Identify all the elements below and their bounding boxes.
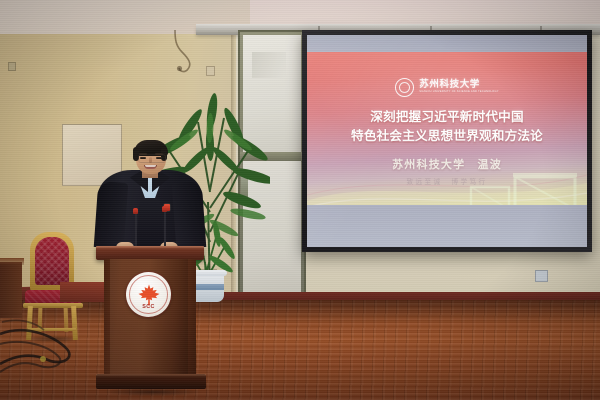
logo-chinese-name: 苏州科技大学	[419, 80, 480, 90]
projection-screen: 苏州科技大学 SUZHOU UNIVERSITY OF SCIENCE AND …	[302, 30, 592, 252]
side-table-top	[0, 258, 24, 265]
wall-socket-right	[535, 270, 548, 282]
suit-shoulder-right	[172, 181, 207, 249]
glasses	[138, 154, 166, 163]
lecture-hall-photograph: 苏州科技大学 SUZHOU UNIVERSITY OF SCIENCE AND …	[0, 0, 600, 400]
chair-back-cushion	[35, 237, 69, 285]
slide-title-line1: 深刻把握习近平新时代中国	[307, 108, 587, 127]
lectern-base-highlight	[96, 374, 206, 377]
slide-title-line2: 特色社会主义思想世界观和方法论	[307, 127, 587, 146]
slide-letterbox-top	[307, 35, 587, 52]
slide-presenter-line: 苏州科技大学 温波	[307, 156, 587, 172]
window-reflection	[252, 52, 286, 78]
screen-surface: 苏州科技大学 SUZHOU UNIVERSITY OF SCIENCE AND …	[307, 35, 587, 247]
crest-abbreviation: SCC	[126, 304, 171, 310]
slide-motto: 致远至诚 博学笃行	[307, 176, 587, 186]
lectern-desktop-highlight	[96, 246, 204, 249]
logo-english-name: SUZHOU UNIVERSITY OF SCIENCE AND TECHNOL…	[419, 91, 498, 94]
suit-shoulder-left	[94, 181, 129, 249]
presenter-at-podium	[98, 142, 202, 260]
slide-letterbox-bottom	[307, 205, 587, 247]
university-emblem-icon	[395, 78, 414, 97]
teeth	[145, 165, 156, 167]
wall-socket-middle	[206, 66, 215, 76]
lectern-floor-shadow	[84, 386, 222, 398]
presentation-slide: 苏州科技大学 SUZHOU UNIVERSITY OF SCIENCE AND …	[307, 52, 587, 215]
slide-title: 深刻把握习近平新时代中国 特色社会主义思想世界观和方法论	[307, 108, 587, 146]
slide-logo: 苏州科技大学 SUZHOU UNIVERSITY OF SCIENCE AND …	[307, 74, 587, 100]
wall-socket-left	[8, 62, 16, 71]
nose	[149, 157, 152, 163]
wall-cable-hook-icon	[172, 30, 198, 76]
lectern-crest: #d3ccb6 SCC	[126, 272, 171, 317]
